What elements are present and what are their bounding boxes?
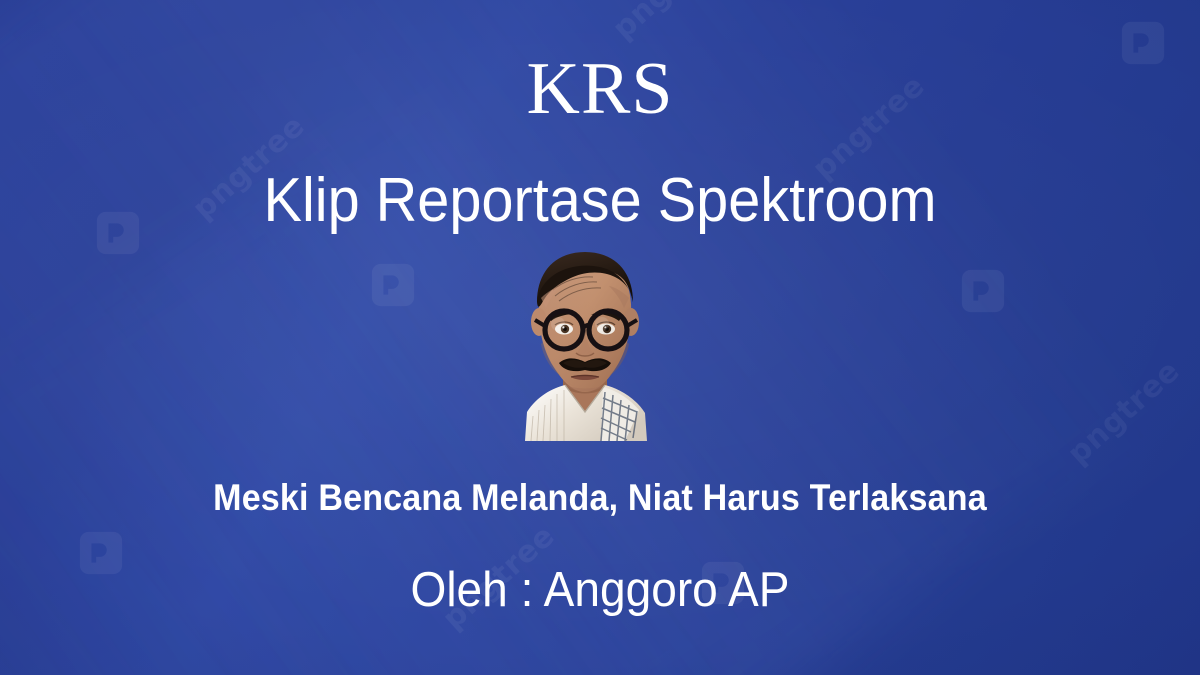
title-slide: pngtree pngtree pngtree pngtree pngtree … bbox=[0, 0, 1200, 675]
program-code-title: KRS bbox=[0, 52, 1200, 126]
presenter-byline: Oleh : Anggoro AP bbox=[36, 565, 1164, 616]
slide-content: KRS Klip Reportase Spektroom bbox=[0, 0, 1200, 675]
portrait-photo bbox=[497, 246, 673, 441]
program-name-subtitle: Klip Reportase Spektroom bbox=[42, 168, 1158, 233]
news-headline: Meski Bencana Melanda, Niat Harus Terlak… bbox=[48, 478, 1152, 519]
